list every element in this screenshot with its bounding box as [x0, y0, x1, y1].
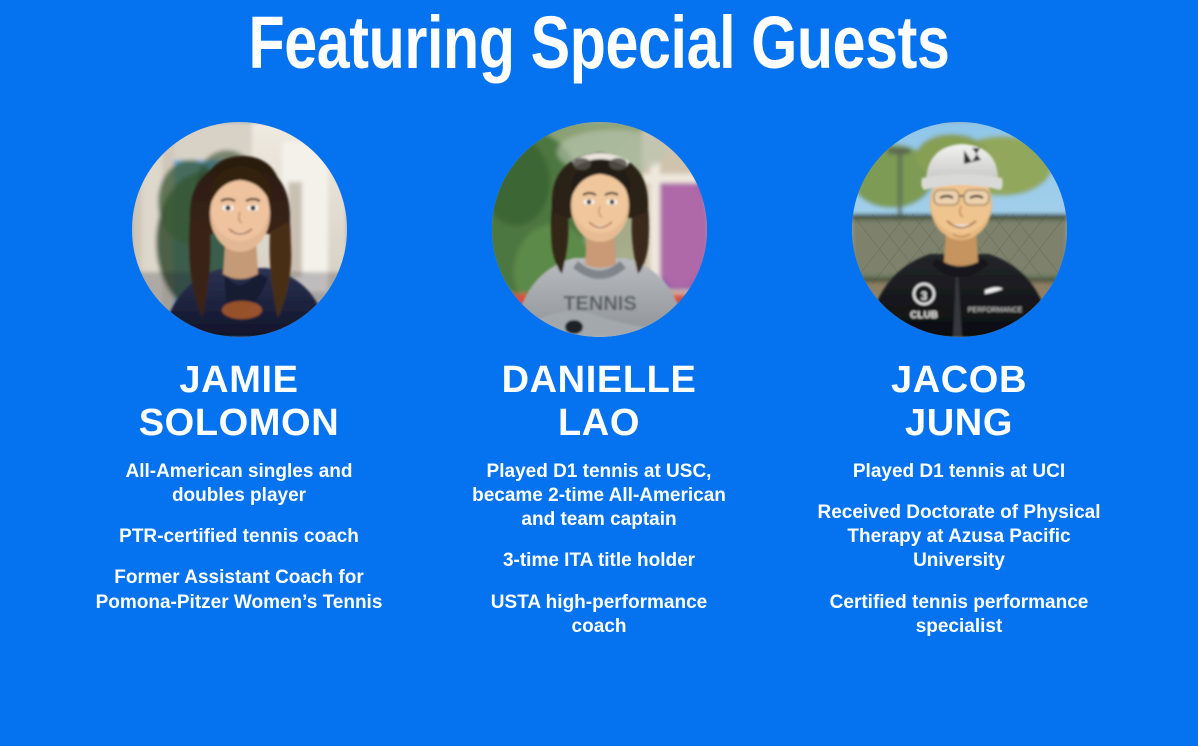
guest-name: DANIELLE LAO [502, 359, 697, 444]
page-title: Featuring Special Guests [120, 6, 1078, 80]
guest-list: JAMIE SOLOMON All-American singles and d… [0, 122, 1198, 639]
guest-bullet: Former Assistant Coach for Pomona-Pitzer… [89, 566, 389, 614]
guest-bullet: PTR-certified tennis coach [89, 525, 389, 549]
guest-bullets: Played D1 tennis at USC, became 2-time A… [462, 460, 737, 639]
guest-bullets: All-American singles and doubles player … [89, 460, 389, 615]
guest-avatar: 3 CLUB PERFORMANCE [852, 122, 1067, 337]
guest-bullet: USTA high-performance coach [462, 591, 737, 639]
guest-bullet: Certified tennis performance specialist [814, 591, 1104, 639]
guest-card: TENNIS [419, 122, 779, 639]
guest-name: JAMIE SOLOMON [139, 359, 340, 444]
guest-bullet: All-American singles and doubles player [89, 460, 389, 508]
guest-bullet: Received Doctorate of Physical Therapy a… [814, 501, 1104, 573]
svg-text:CLUB: CLUB [910, 310, 938, 321]
guest-card: JAMIE SOLOMON All-American singles and d… [59, 122, 419, 615]
svg-text:PERFORMANCE: PERFORMANCE [967, 307, 1022, 314]
guest-bullet: Played D1 tennis at USC, became 2-time A… [462, 460, 737, 532]
guest-bullet: 3-time ITA title holder [462, 549, 737, 573]
guest-avatar: TENNIS [492, 122, 707, 337]
guest-bullet: Played D1 tennis at UCI [814, 460, 1104, 484]
guest-bullets: Played D1 tennis at UCI Received Doctora… [814, 460, 1104, 639]
guest-avatar [132, 122, 347, 337]
guest-card: 3 CLUB PERFORMANCE [779, 122, 1139, 639]
guest-name: JACOB JUNG [891, 359, 1027, 444]
svg-text:3: 3 [920, 289, 927, 303]
